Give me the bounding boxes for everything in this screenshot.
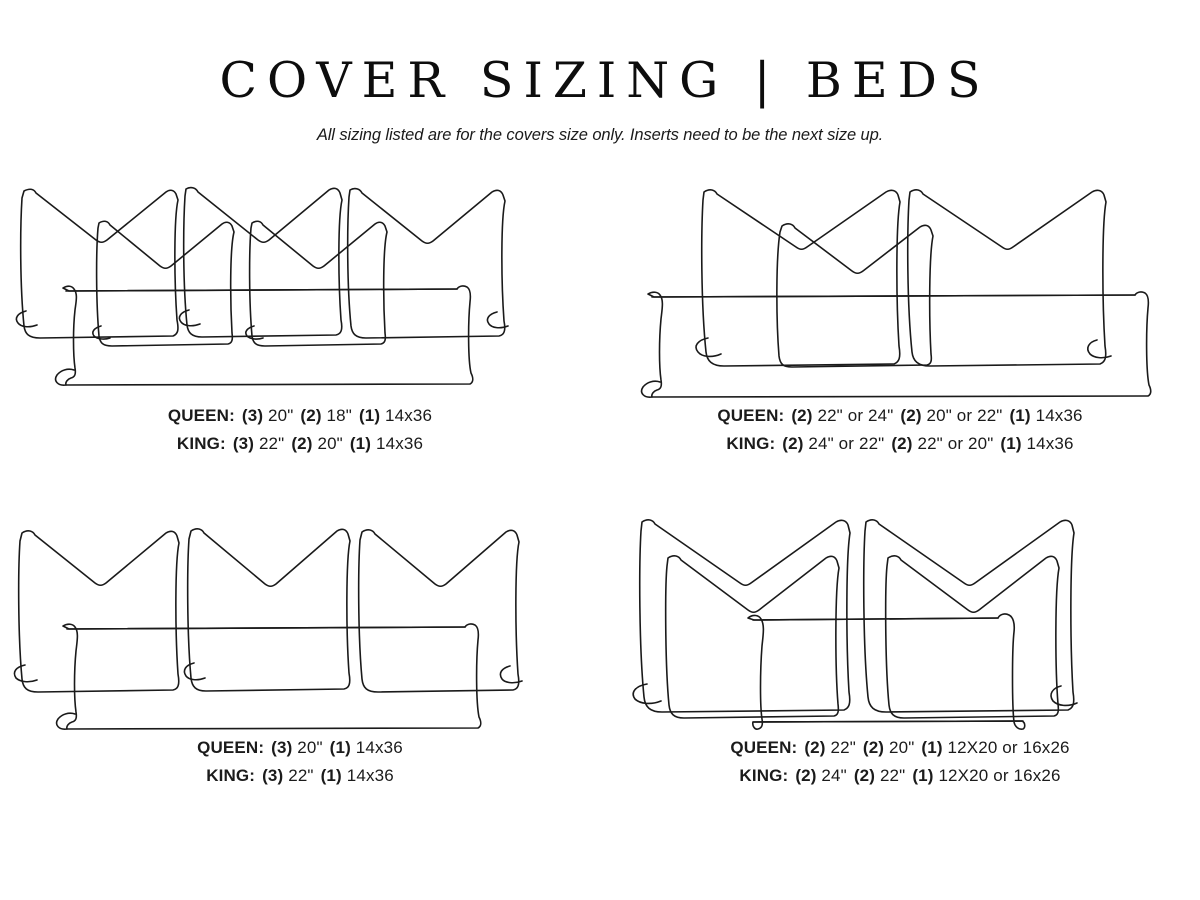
qty: (1) [330, 738, 351, 757]
bed-label-queen: QUEEN: [197, 738, 264, 757]
size: 14x36 [1027, 434, 1074, 453]
label-row-king: KING:(3) 22"(2) 20"(1) 14x36 [0, 430, 600, 458]
bed-label-king: KING: [739, 766, 788, 785]
qty: (3) [271, 738, 292, 757]
size: 22" or 24" [817, 406, 893, 425]
size: 20" or 22" [927, 406, 1003, 425]
middle-pillow-right [246, 221, 387, 346]
bed-label-king: KING: [177, 434, 226, 453]
qty: (1) [1009, 406, 1030, 425]
size: 12X20 or 16x26 [938, 766, 1060, 785]
label-row-queen: QUEEN:(3) 20"(1) 14x36 [0, 734, 600, 762]
qty: (2) [804, 738, 825, 757]
size: 14x36 [376, 434, 423, 453]
qty: (2) [900, 406, 921, 425]
qty: (1) [321, 766, 342, 785]
qty: (2) [795, 766, 816, 785]
pillow-illustration-panel-2 [600, 168, 1200, 400]
label-row-queen: QUEEN:(3) 20"(2) 18"(1) 14x36 [0, 402, 600, 430]
back-pillow-left [14, 531, 179, 692]
page-title: COVER SIZING | BEDS [0, 56, 1200, 105]
sizing-labels-panel-4: QUEEN:(2) 22"(2) 20"(1) 12X20 or 16x26 K… [600, 734, 1200, 789]
pillow-illustration-panel-1 [0, 168, 600, 400]
bed-label-queen: QUEEN: [730, 738, 797, 757]
size: 24" or 22" [808, 434, 884, 453]
back-pillow-right [908, 190, 1111, 366]
qty: (2) [782, 434, 803, 453]
pillow-illustration-panel-3 [0, 500, 600, 732]
front-lumbar-pillow [642, 292, 1151, 397]
pillow-illustration-panel-4 [600, 500, 1200, 732]
size: 20" [268, 406, 293, 425]
front-lumbar-pillow [57, 624, 481, 729]
label-row-king: KING:(3) 22"(1) 14x36 [0, 762, 600, 790]
size: 14x36 [385, 406, 432, 425]
qty: (1) [359, 406, 380, 425]
size: 14x36 [356, 738, 403, 757]
size: 22" or 20" [917, 434, 993, 453]
panel-three-pillow-with-lumbar: QUEEN:(3) 20"(1) 14x36 KING:(3) 22"(1) 1… [0, 500, 600, 832]
panel-five-pillow-two-row-with-lumbar: QUEEN:(3) 20"(2) 18"(1) 14x36 KING:(3) 2… [0, 168, 600, 500]
bed-label-king: KING: [206, 766, 255, 785]
back-pillow-left [696, 190, 900, 366]
page-subtitle: All sizing listed are for the covers siz… [0, 126, 1200, 145]
panel-four-pillow-with-small-lumbar: QUEEN:(2) 22"(2) 20"(1) 12X20 or 16x26 K… [600, 500, 1200, 832]
sizing-labels-panel-3: QUEEN:(3) 20"(1) 14x36 KING:(3) 22"(1) 1… [0, 734, 600, 789]
panel-grid: QUEEN:(3) 20"(2) 18"(1) 14x36 KING:(3) 2… [0, 168, 1200, 832]
sizing-labels-panel-2: QUEEN:(2) 22" or 24"(2) 20" or 22"(1) 14… [600, 402, 1200, 457]
cover-sizing-infographic: COVER SIZING | BEDS All sizing listed ar… [0, 0, 1200, 900]
qty: (2) [854, 766, 875, 785]
size: 14x36 [347, 766, 394, 785]
back-pillow-right [359, 530, 522, 692]
qty: (2) [863, 738, 884, 757]
qty: (2) [291, 434, 312, 453]
qty: (3) [233, 434, 254, 453]
middle-pillow-right [886, 556, 1059, 718]
qty: (3) [242, 406, 263, 425]
size: 20" [317, 434, 342, 453]
size: 12X20 or 16x26 [948, 738, 1070, 757]
middle-pillow-left [93, 221, 234, 346]
back-pillow-right [864, 520, 1077, 712]
size: 24" [821, 766, 846, 785]
label-row-king: KING:(2) 24"(2) 22"(1) 12X20 or 16x26 [600, 762, 1200, 790]
size: 22" [880, 766, 905, 785]
label-row-queen: QUEEN:(2) 22"(2) 20"(1) 12X20 or 16x26 [600, 734, 1200, 762]
qty: (1) [921, 738, 942, 757]
size: 20" [297, 738, 322, 757]
label-row-queen: QUEEN:(2) 22" or 24"(2) 20" or 22"(1) 14… [600, 402, 1200, 430]
size: 22" [830, 738, 855, 757]
label-row-king: KING:(2) 24" or 22"(2) 22" or 20"(1) 14x… [600, 430, 1200, 458]
size: 20" [889, 738, 914, 757]
qty: (1) [350, 434, 371, 453]
qty: (3) [262, 766, 283, 785]
bed-label-queen: QUEEN: [717, 406, 784, 425]
middle-pillow-left [666, 556, 839, 718]
header: COVER SIZING | BEDS All sizing listed ar… [0, 0, 1200, 145]
qty: (2) [300, 406, 321, 425]
panel-four-pillow-with-lumbar: QUEEN:(2) 22" or 24"(2) 20" or 22"(1) 14… [600, 168, 1200, 500]
size: 22" [259, 434, 284, 453]
size: 22" [288, 766, 313, 785]
size: 18" [327, 406, 352, 425]
back-pillow-center [179, 188, 342, 337]
back-pillow-center [184, 529, 350, 691]
qty: (2) [891, 434, 912, 453]
qty: (2) [791, 406, 812, 425]
bed-label-king: KING: [726, 434, 775, 453]
qty: (1) [1000, 434, 1021, 453]
bed-label-queen: QUEEN: [168, 406, 235, 425]
qty: (1) [912, 766, 933, 785]
sizing-labels-panel-1: QUEEN:(3) 20"(2) 18"(1) 14x36 KING:(3) 2… [0, 402, 600, 457]
back-pillow-right [348, 189, 508, 338]
size: 14x36 [1036, 406, 1083, 425]
